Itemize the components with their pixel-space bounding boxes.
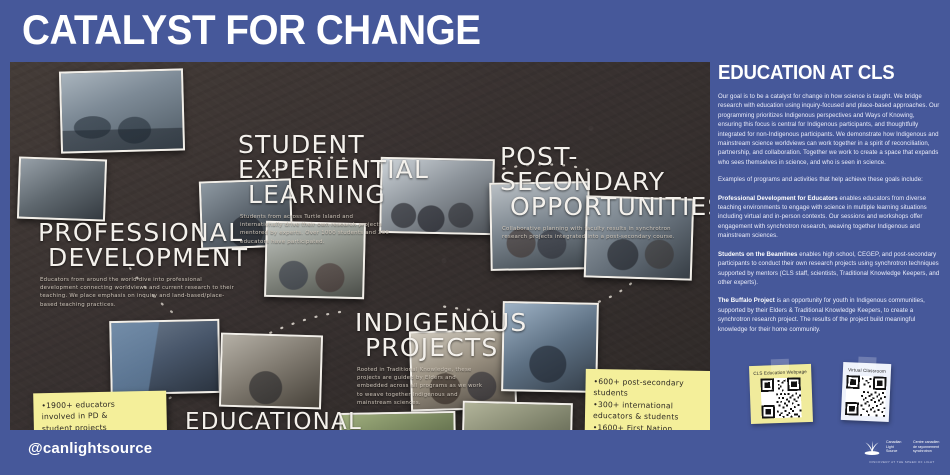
program-name: The Buffalo Project xyxy=(718,297,775,304)
photo-lab-tour xyxy=(59,68,185,153)
program-name: Students on the Beamlines xyxy=(718,251,797,258)
stat-line: •1600+ First Nation, xyxy=(593,422,710,430)
logo-name-en: Canadian Light Source xyxy=(886,440,913,454)
sidebar-heading: EDUCATION AT CLS xyxy=(718,62,924,84)
program-the-buffalo-project: The Buffalo Project is an opportunity fo… xyxy=(718,296,940,334)
cls-logo: Canadian Light Source Centre canadien de… xyxy=(862,437,942,467)
poster-root: CATALYST FOR CHANGE xyxy=(0,0,950,475)
logo-fr-line-1: Centre canadien xyxy=(913,440,940,445)
section-heading: POST-SECONDARY OPPORTUNITIES xyxy=(500,144,705,219)
page-title: CATALYST FOR CHANGE xyxy=(22,6,481,54)
sidebar-examples-lead: Examples of programs and activities that… xyxy=(718,175,940,184)
section-heading: PROFESSIONAL DEVELOPMENT xyxy=(38,220,238,270)
section-body: Rooted in Traditional Knowledge, these p… xyxy=(357,366,487,407)
section-body: Students from across Turtle Island and i… xyxy=(240,213,390,246)
sidebar-intro: Our goal is to be a catalyst for change … xyxy=(718,92,940,167)
photo-pd-session xyxy=(17,156,107,221)
photo-virtual-classroom-screen xyxy=(109,319,221,395)
heading-line-2: PROJECTS xyxy=(355,335,545,360)
logo-name-fr: Centre canadien de rayonnement synchrotr… xyxy=(913,440,940,454)
section-student-experiential-learning: STUDENT EXPERIENTIAL LEARNING Students f… xyxy=(238,132,483,246)
section-heading: STUDENT EXPERIENTIAL LEARNING xyxy=(238,132,483,207)
section-heading: INDIGENOUS PROJECTS xyxy=(355,310,545,360)
program-students-on-the-beamlines: Students on the Beamlines enables high s… xyxy=(718,250,940,288)
section-professional-development: PROFESSIONAL DEVELOPMENT Educators from … xyxy=(38,220,238,309)
social-handle[interactable]: @canlightsource xyxy=(28,440,152,457)
tape-strip xyxy=(858,357,877,370)
qr-virtual-classroom[interactable]: Virtual Classroom xyxy=(841,362,891,422)
heading-line-2: OPPORTUNITIES xyxy=(500,194,705,219)
title-bar: CATALYST FOR CHANGE xyxy=(0,0,950,60)
logo-tagline: DISCOVERY AT THE SPEED OF LIGHT xyxy=(862,460,942,464)
program-professional-development: Professional Development for Educators e… xyxy=(718,194,940,241)
qr-code-icon xyxy=(760,377,801,418)
photo-collage-panel: PROFESSIONAL DEVELOPMENT Educators from … xyxy=(10,62,710,430)
heading-line-1: STUDENT EXPERIENTIAL xyxy=(238,130,429,184)
logo-fr-line-3: synchrotron xyxy=(913,449,940,454)
section-body: Educators from around the world dive int… xyxy=(40,276,238,309)
section-post-secondary-opportunities: POST-SECONDARY OPPORTUNITIES Collaborati… xyxy=(500,144,705,241)
heading-line-1: POST-SECONDARY xyxy=(500,142,665,196)
heading-line-1: EDUCATIONAL xyxy=(185,409,362,430)
section-body: Collaborative planning with faculty resu… xyxy=(502,225,692,241)
heading-line-2: DEVELOPMENT xyxy=(38,245,238,270)
qr-code-icon xyxy=(845,375,887,417)
heading-line-2: LEARNING xyxy=(238,182,483,207)
stats-note-left: •1900+ educators involved in PD & studen… xyxy=(33,391,168,430)
sidebar-education-at-cls: EDUCATION AT CLS Our goal is to be a cat… xyxy=(718,62,940,430)
tape-strip xyxy=(771,359,789,372)
qr-code-row: CLS Education Webpage xyxy=(736,359,936,431)
section-indigenous-projects: INDIGENOUS PROJECTS Rooted in Traditiona… xyxy=(355,310,545,407)
section-heading: EDUCATIONAL RESOURCES xyxy=(185,410,375,430)
photo-workshop-table xyxy=(219,333,323,410)
program-name: Professional Development for Educators xyxy=(718,195,838,202)
logo-wordmark: Canadian Light Source Centre canadien de… xyxy=(886,440,944,454)
section-educational-resources: EDUCATIONAL RESOURCES A wide range of ed… xyxy=(185,410,375,430)
logo-en-line-3: Source xyxy=(886,449,913,454)
stats-note-right: •600+ post-secondary students •300+ inte… xyxy=(584,369,710,430)
starburst-icon xyxy=(862,440,882,458)
qr-cls-education-webpage[interactable]: CLS Education Webpage xyxy=(749,364,813,424)
stat-line: student projects xyxy=(42,421,160,430)
